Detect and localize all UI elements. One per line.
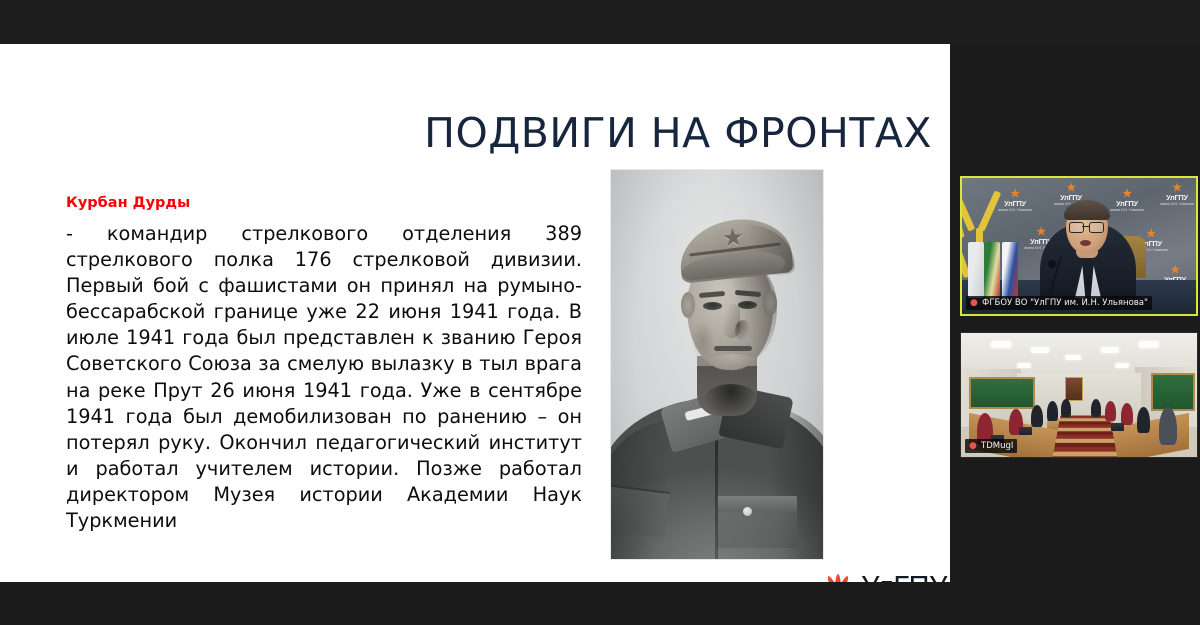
- backdrop-flame-icon: ★: [1054, 184, 1088, 193]
- slide-text-column: Курбан Дурды - командир стрелкового отде…: [66, 194, 582, 534]
- room-participant: [1091, 399, 1101, 417]
- glasses-lens-left: [1069, 222, 1084, 233]
- backdrop-logo-tile: ★ УлГПУ имени И.Н. Ульянова: [1110, 190, 1144, 212]
- person-name-heading: Курбан Дурды: [66, 194, 582, 212]
- participant-name-text: TDMugI: [981, 440, 1013, 452]
- room-participant: [1061, 399, 1071, 417]
- glasses-bridge: [1082, 226, 1089, 227]
- logo-name-label: УлГПУ: [861, 572, 947, 582]
- glasses-lens-right: [1089, 222, 1104, 233]
- room-participant: [1137, 407, 1150, 433]
- backdrop-logo-tile: ★ УлГПУ имени И.Н. Ульянова: [998, 190, 1032, 212]
- participant-name-label: ● TDMugI: [965, 439, 1017, 453]
- backdrop-flame-icon: ★: [998, 190, 1032, 199]
- backdrop-logo-name: УлГПУ: [1004, 199, 1026, 208]
- flag-2: [984, 242, 1000, 298]
- logo-flame-icon: 1932: [818, 567, 858, 582]
- backdrop-logo-name: УлГПУ: [1166, 193, 1188, 202]
- speaker-mouth: [1080, 240, 1091, 246]
- soldier-portrait-photo: ★: [611, 170, 823, 559]
- backdrop-flame-icon: ★: [1160, 184, 1194, 193]
- participant-tile-speaker[interactable]: ★ УлГПУ имени И.Н. Ульянова ★ УлГПУ имен…: [960, 176, 1198, 316]
- person-biography-text: - командир стрелкового отделения 389 стр…: [66, 221, 582, 534]
- room-participant: [1031, 405, 1043, 427]
- page-title: ПОДВИГИ НА ФРОНТАХ: [424, 110, 932, 156]
- laptop-icon: [1111, 423, 1124, 431]
- flag-3: [1002, 242, 1018, 298]
- photo-vignette: [611, 170, 823, 559]
- university-logo: 1932 УлГПУ имени И.Н. Ульянова: [818, 565, 948, 582]
- speaker-video-scene: ★ УлГПУ имени И.Н. Ульянова ★ УлГПУ имен…: [962, 178, 1196, 314]
- participant-name-text: ФГБОУ ВО "УлГПУ им. И.Н. Ульянова": [982, 297, 1148, 309]
- mic-muted-icon: ●: [969, 442, 978, 451]
- bottom-letterbox-bar: [0, 582, 955, 625]
- room-participant: [1105, 401, 1116, 421]
- video-conference-screen: ПОДВИГИ НА ФРОНТАХ Курбан Дурды - команд…: [0, 0, 1200, 625]
- notice-board-right: [1151, 373, 1195, 411]
- backdrop-logo-sub: имени И.Н. Ульянова: [1110, 208, 1144, 212]
- backdrop-logo-tile: ★ УлГПУ имени И.Н. Ульянова: [1160, 184, 1194, 206]
- backdrop-flame-icon: ★: [1158, 266, 1192, 275]
- room-participant: [1047, 401, 1058, 421]
- portrait-canvas: ★: [611, 170, 823, 559]
- participant-rail: ★ УлГПУ имени И.Н. Ульянова ★ УлГПУ имен…: [955, 0, 1200, 625]
- laptop-icon: [1019, 427, 1032, 435]
- room-participant: [1159, 407, 1177, 445]
- backdrop-flame-icon: ★: [1110, 190, 1144, 199]
- shared-slide[interactable]: ПОДВИГИ НА ФРОНТАХ Курбан Дурды - команд…: [0, 44, 950, 582]
- logo-text-wrap: УлГПУ имени И.Н. Ульянова: [861, 572, 947, 582]
- participant-name-label: ● ФГБОУ ВО "УлГПУ им. И.Н. Ульянова": [966, 296, 1152, 310]
- flag-1: [968, 242, 984, 298]
- backdrop-logo-sub: имени И.Н. Ульянова: [998, 208, 1032, 212]
- participant-tile-room[interactable]: ● TDMugI: [960, 332, 1198, 458]
- room-participant: [1121, 403, 1133, 425]
- notice-board-left: [969, 377, 1035, 409]
- backdrop-logo-sub: имени И.Н. Ульянова: [1160, 202, 1194, 206]
- mic-muted-icon: ●: [970, 299, 979, 308]
- backdrop-logo-name: УлГПУ: [1116, 199, 1138, 208]
- microphone-icon: [1048, 260, 1056, 268]
- wall-portrait-frame: [1065, 377, 1083, 401]
- room-carpet: [1052, 415, 1117, 458]
